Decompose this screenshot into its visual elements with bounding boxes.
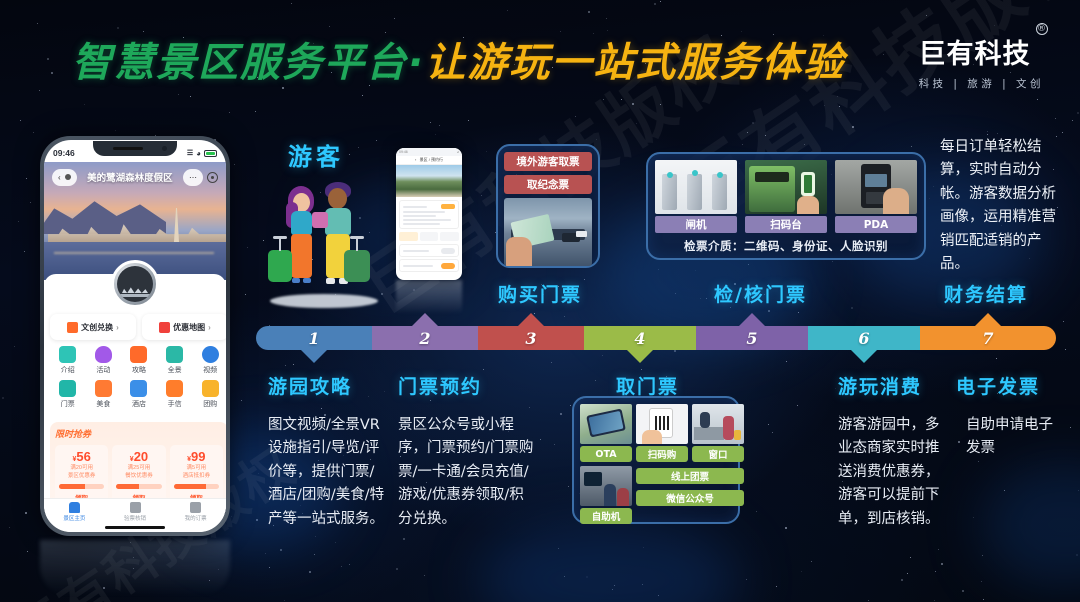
coupon-amount: ¥56 (57, 449, 106, 464)
timeline-arrow-up (518, 313, 544, 326)
step-body-park-guide: 图文视频/全景VR设施指引/导览/评价等，提供门票/酒店/团购/美食/特产等一站… (268, 414, 388, 531)
timeline-step-2: 2 (372, 326, 478, 350)
gift-bag-icon (166, 380, 183, 397)
app-icon-label: 酒店 (132, 399, 146, 409)
step-body-consumption: 游客游园中，多业态商家实时推送消费优惠券，游客可以提前下单，到店核销。 (838, 414, 950, 531)
coupon-amount: ¥99 (172, 449, 221, 464)
channel-window: 窗口 (692, 404, 744, 462)
quick-button-label: 文创兑换 (81, 322, 113, 333)
coupon-condition: 满20可用 (57, 464, 106, 472)
cultural-icon (67, 322, 78, 333)
timeline-arrow-down (851, 350, 877, 363)
app-icon-8[interactable]: 酒店 (121, 380, 157, 409)
phone-notch (93, 141, 177, 156)
app-icon-10[interactable]: 团购 (192, 380, 226, 409)
tab-icon (130, 502, 141, 513)
home-dot-icon (65, 174, 71, 180)
tab-icon (190, 502, 201, 513)
phone-reflection (40, 540, 230, 596)
phone-nav-bar: ‹ 美的鹭湖森林度假区 ⋯ (44, 166, 226, 188)
phone-tab-bar: 景区主页验票核销我的订票 (44, 498, 226, 524)
app-icon-6[interactable]: 门票 (50, 380, 86, 409)
phone-tab-2[interactable]: 验票核销 (105, 499, 166, 524)
timeline-step-5: 5 (696, 326, 808, 350)
timeline-step-number: 5 (746, 329, 757, 348)
timeline-arrow-up (739, 313, 765, 326)
app-icon-label: 手信 (168, 399, 182, 409)
status-time: 09:46 (53, 148, 75, 158)
book-icon (59, 346, 76, 363)
step-heading-park-guide: 游园攻略 (268, 372, 352, 399)
brand-name-text: 巨有科技 (919, 39, 1031, 70)
timeline-arrow-up (975, 313, 1001, 326)
check-card-turnstile: 闸机 (655, 160, 737, 233)
more-options-button[interactable]: ⋯ (183, 169, 203, 186)
app-icon-label: 团购 (203, 399, 217, 409)
channel-ota: OTA (580, 404, 632, 462)
channel-label[interactable]: 扫码购 (636, 446, 688, 462)
chevron-right-icon: › (116, 323, 119, 332)
timeline-step-number: 6 (858, 329, 869, 348)
brand-logo: 巨有科技 ® 科技 | 旅游 | 文创 (919, 32, 1044, 91)
pda-photo (835, 160, 917, 214)
ticket-icon (59, 380, 76, 397)
app-icon-label: 全景 (168, 365, 182, 375)
app-icon-label: 视频 (203, 365, 217, 375)
header: 智慧景区服务平台·让游玩一站式服务体验 巨有科技 ® 科技 | 旅游 | 文创 (0, 0, 1080, 110)
mini-phone-reflection (396, 280, 462, 314)
app-icon-9[interactable]: 手信 (157, 380, 193, 409)
coupon-scope: 景区优惠券 (57, 472, 106, 480)
channel-label[interactable]: 自助机 (580, 508, 632, 524)
group-buy-icon (202, 380, 219, 397)
check-card-label: 扫码台 (745, 216, 827, 233)
app-icon-3[interactable]: 攻略 (121, 346, 157, 375)
panorama-icon (166, 346, 183, 363)
step-heading-consumption: 游玩消费 (838, 372, 922, 399)
brand-tagline: 科技 | 旅游 | 文创 (919, 76, 1044, 91)
tab-label: 景区主页 (63, 514, 85, 522)
brand-name: 巨有科技 ® (919, 32, 1044, 71)
timeline-step-number: 2 (419, 329, 430, 348)
step-body-ticket-booking: 景区公众号或小程序，门票预约/门票购票/一卡通/会员充值/游戏/优惠券领取/积分… (398, 414, 534, 531)
qr-scan-photo (636, 404, 688, 444)
quick-action-row: 文创兑换 › 优惠地图 › (50, 314, 226, 340)
signal-icon: ☰ (187, 149, 193, 157)
app-icon-label: 门票 (61, 399, 75, 409)
map-icon (159, 322, 170, 333)
tourists-illustration (264, 176, 384, 308)
step-heading-get-ticket: 取门票 (616, 372, 679, 399)
registered-mark-icon: ® (1036, 23, 1048, 35)
timeline-arrow-down (627, 350, 653, 363)
app-icon-7[interactable]: 美食 (86, 380, 122, 409)
tourists-label: 游客 (288, 137, 344, 172)
app-icon-label: 活动 (96, 365, 110, 375)
self-service-kiosk-photo (580, 466, 632, 506)
channel-qr-purchase: 扫码购 (636, 404, 688, 462)
app-icon-1[interactable]: 介绍 (50, 346, 86, 375)
app-icon-label: 介绍 (61, 365, 75, 375)
app-icon-2[interactable]: 活动 (86, 346, 122, 375)
timeline-step-7: 7 (920, 326, 1056, 350)
coupon-amount: ¥20 (114, 449, 163, 464)
step-heading-ticket-booking: 门票预约 (398, 372, 482, 399)
battery-icon (204, 150, 217, 157)
coupon-scope: 餐饮优惠券 (114, 472, 163, 480)
settlement-description: 每日订单轻松结算，实时自动分帐。游客数据分析画像，运用精准营销匹配适销的产品。 (940, 136, 1066, 277)
chevron-right-icon: › (208, 323, 211, 332)
counter-window-photo (692, 404, 744, 444)
check-media-caption: 检票介质：二维码、身份证、人脸识别 (655, 238, 917, 254)
ota-phone-map-photo (580, 404, 632, 444)
wifi-icon: ◕ (196, 149, 201, 158)
get-ticket-panel: OTA 扫码购 窗口 自助机 线上团票 微信公众号 (572, 396, 740, 524)
ticket-pickup-panel: 境外游客取票 取纪念票 (496, 144, 600, 268)
overseas-ticket-button[interactable]: 境外游客取票 (504, 152, 592, 171)
coupon-section-title: 限时抢券 (55, 427, 223, 440)
channel-label[interactable]: 窗口 (692, 446, 744, 462)
balloon-icon (95, 346, 112, 363)
app-icon-label: 美食 (96, 399, 110, 409)
channel-wechat-official[interactable]: 微信公众号 (636, 490, 744, 506)
quick-button-label: 优惠地图 (173, 322, 205, 333)
timeline-arrow-down (301, 350, 327, 363)
phone-mockup: 09:46 ☰ ◕ ‹ 美的鹭湖森林度假区 ⋯ 文创兑换 › (40, 136, 230, 536)
scenic-badge-icon (111, 260, 159, 308)
timeline-step-6: 6 (808, 326, 920, 350)
phone-tab-1[interactable]: 景区主页 (44, 499, 105, 524)
timeline-step-number: 4 (634, 329, 645, 348)
step-heading-check-ticket: 检/核门票 (714, 280, 807, 307)
app-icon-grid: 介绍活动攻略全景视频门票美食酒店手信团购 (50, 346, 226, 409)
app-icon-4[interactable]: 全景 (157, 346, 193, 375)
process-timeline: 1234567 (256, 326, 1056, 350)
ticket-check-panel: 闸机 扫码台 PDA 检票介质：二维码、身份证、人脸识别 (646, 152, 926, 260)
coupon-progress-bar (59, 484, 104, 489)
timeline-step-1: 1 (256, 326, 372, 350)
quick-button-discount-map[interactable]: 优惠地图 › (142, 314, 226, 340)
page-title-green: 智慧景区服务平台· (72, 40, 425, 86)
quick-button-cultural-exchange[interactable]: 文创兑换 › (50, 314, 136, 340)
timeline-step-number: 3 (525, 329, 536, 348)
coupon-card[interactable]: ¥99满5可用酒店抵扣券领取 (170, 445, 223, 505)
scan-station-photo (745, 160, 827, 214)
channel-self-service: 自助机 (580, 466, 632, 524)
coupon-progress-bar (174, 484, 219, 489)
page-title: 智慧景区服务平台·让游玩一站式服务体验 (72, 30, 845, 88)
page-title-yellow: 让游玩一站式服务体验 (425, 40, 845, 86)
guide-icon (130, 346, 147, 363)
hotel-icon (130, 380, 147, 397)
app-icon-5[interactable]: 视频 (192, 346, 226, 375)
souvenir-ticket-button[interactable]: 取纪念票 (504, 175, 592, 194)
tab-icon (69, 502, 80, 513)
tab-label: 验票核销 (124, 514, 146, 522)
infographic-canvas: 巨有科技版权 巨有科技版权 巨有科技版权 智慧景区服务平台·让游玩一站式服务体验… (0, 0, 1080, 602)
coupon-condition: 满5可用 (172, 464, 221, 472)
app-icon-label: 攻略 (132, 365, 146, 375)
phone-tab-3[interactable]: 我的订票 (165, 499, 226, 524)
timeline-arrow-up (412, 313, 438, 326)
coupon-card[interactable]: ¥56满20可用景区优惠券领取 (55, 445, 108, 505)
step-heading-buy-ticket: 购买门票 (498, 280, 582, 307)
step-heading-settlement: 财务结算 (944, 280, 1028, 307)
coupon-progress-bar (116, 484, 161, 489)
check-card-scan-station: 扫码台 (745, 160, 827, 233)
back-button[interactable]: ‹ (52, 169, 77, 186)
timeline-step-number: 7 (982, 329, 993, 348)
target-icon[interactable] (207, 172, 218, 183)
coupon-list: ¥56满20可用景区优惠券领取¥20满25可用餐饮优惠券领取¥99满5可用酒店抵… (55, 445, 223, 505)
timeline-step-3: 3 (478, 326, 584, 350)
step-body-e-invoice: 自助申请电子发票 (966, 414, 1066, 461)
kiosk-ticket-photo (504, 198, 592, 266)
step-heading-e-invoice: 电子发票 (956, 372, 1040, 399)
tab-label: 我的订票 (185, 514, 207, 522)
play-icon (202, 346, 219, 363)
timeline-step-4: 4 (584, 326, 696, 350)
channel-group-ticket[interactable]: 线上团票 (636, 468, 744, 484)
check-card-pda: PDA (835, 160, 917, 233)
turnstile-photo (655, 160, 737, 214)
check-card-label: PDA (835, 216, 917, 233)
destination-photo (396, 165, 462, 197)
booking-app-screen: 09:46◕ ‹ 景区 / 预约行 (396, 148, 462, 280)
check-card-label: 闸机 (655, 216, 737, 233)
timeline-step-number: 1 (308, 329, 319, 348)
coupon-condition: 满25可用 (114, 464, 163, 472)
coupon-card[interactable]: ¥20满25可用餐饮优惠券领取 (112, 445, 165, 505)
channel-label[interactable]: OTA (580, 446, 632, 462)
home-indicator (105, 526, 165, 529)
coupon-scope: 酒店抵扣券 (172, 472, 221, 480)
fork-knife-icon (95, 380, 112, 397)
scenic-area-title: 美的鹭湖森林度假区 (81, 170, 179, 184)
